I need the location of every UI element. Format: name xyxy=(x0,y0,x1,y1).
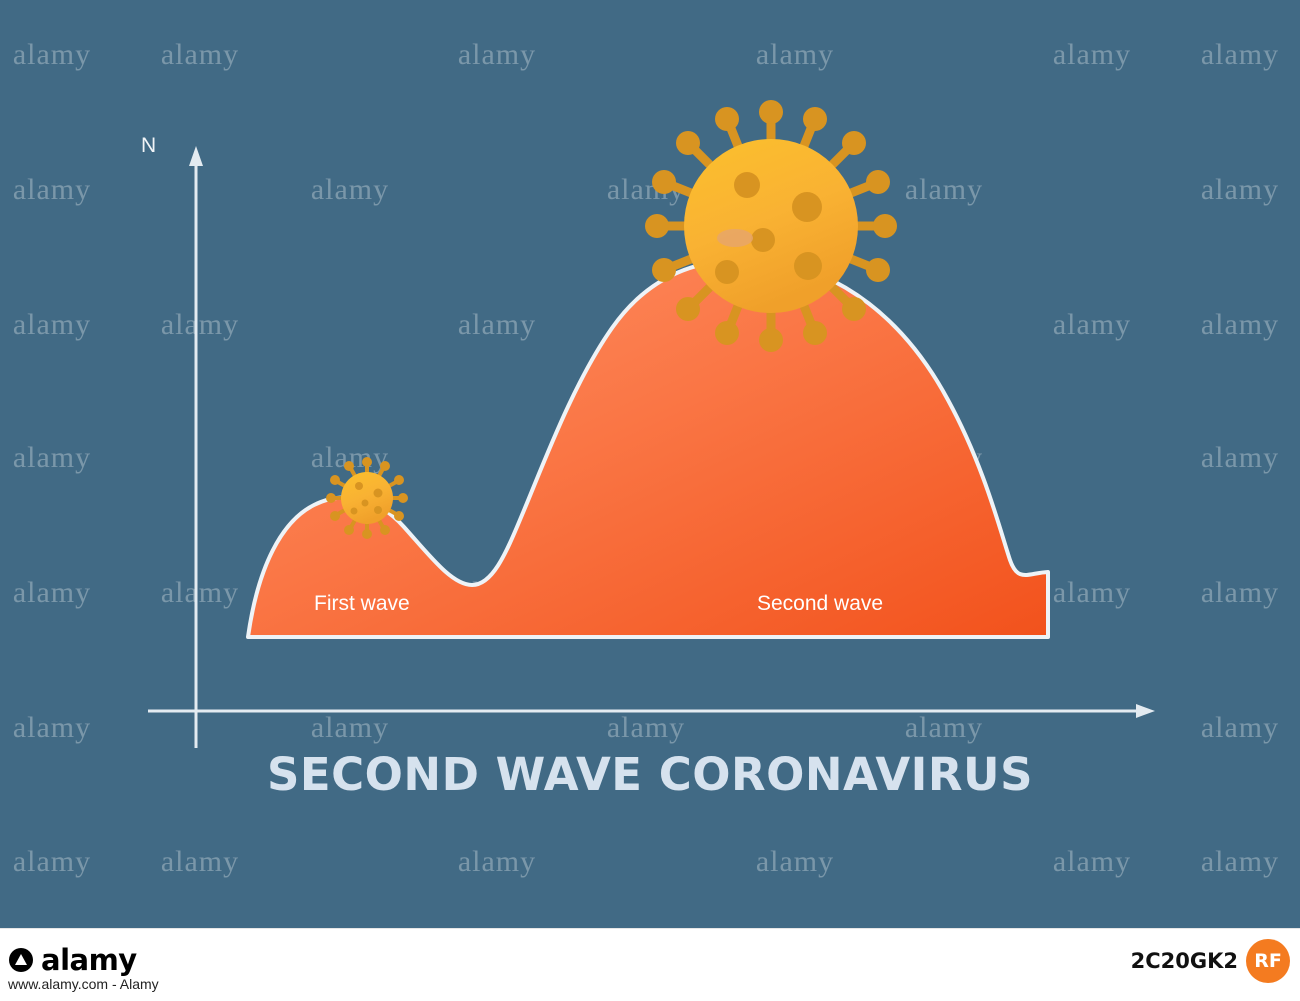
footer-logo-group: alamy xyxy=(8,943,137,977)
wave-curve-path xyxy=(248,260,1048,637)
virus-highlight xyxy=(717,229,753,247)
x-axis-arrow xyxy=(1136,704,1155,718)
chart-title: SECOND WAVE CORONAVIRUS xyxy=(0,748,1300,801)
license-badge: RF xyxy=(1246,939,1290,983)
virus-body-small xyxy=(341,472,393,524)
first-wave-label: First wave xyxy=(314,592,410,616)
y-axis-label: N xyxy=(141,134,156,158)
wave-area-series xyxy=(248,260,1048,637)
stock-photo-page: alamy alamy alamy alamy alamy alamy alam… xyxy=(0,0,1300,1000)
stock-footer-bar: alamy www.alamy.com - Alamy 2C20GK2 RF xyxy=(0,928,1300,1001)
y-axis-arrow xyxy=(189,146,203,166)
virus-body xyxy=(684,139,858,313)
footer-caption: www.alamy.com - Alamy xyxy=(8,976,159,992)
footer-right-group: 2C20GK2 RF xyxy=(1131,939,1290,983)
illustration-artboard: alamy alamy alamy alamy alamy alamy alam… xyxy=(0,0,1300,928)
image-ref-code: 2C20GK2 xyxy=(1131,949,1238,973)
alamy-mark-icon xyxy=(8,947,34,973)
alamy-logo-text: alamy xyxy=(41,943,137,977)
second-wave-virus-icon xyxy=(645,100,897,352)
second-wave-label: Second wave xyxy=(757,592,883,616)
